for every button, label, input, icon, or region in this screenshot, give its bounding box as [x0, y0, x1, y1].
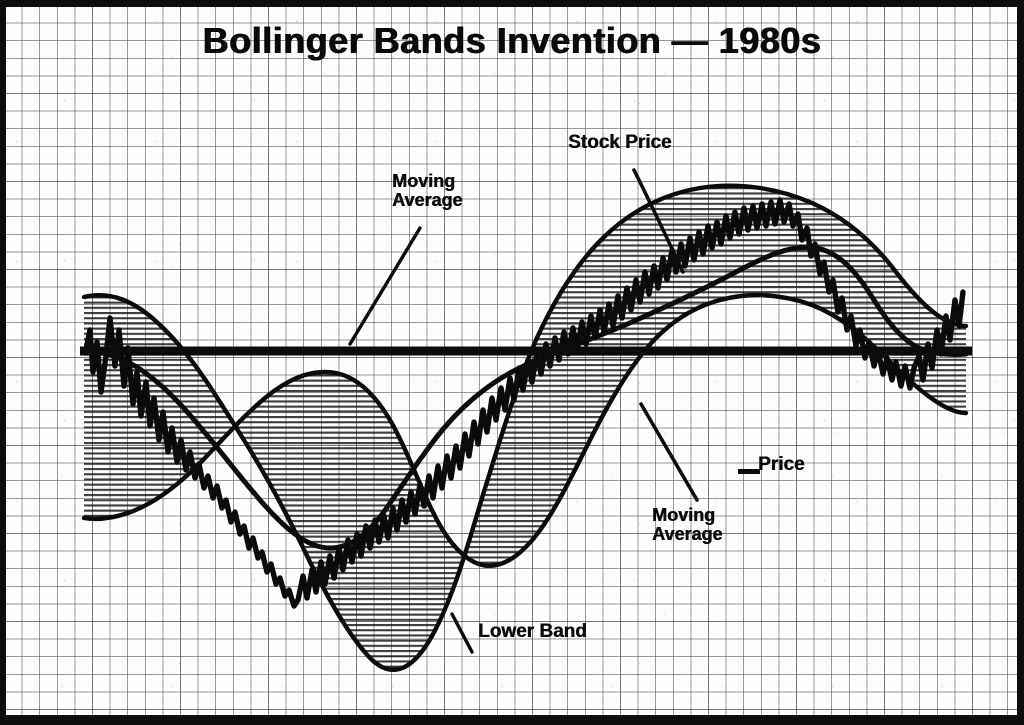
annotation-lower-band: Lower Band	[478, 622, 587, 643]
page-edge-right	[1017, 0, 1024, 725]
annotation-ma-bottom-line2: Average	[652, 525, 722, 544]
leader-line-lower-band	[452, 614, 472, 652]
leader-line-moving-average-top	[350, 228, 420, 344]
bollinger-bands-chart	[0, 0, 1024, 725]
legend-line-marker-icon	[738, 469, 760, 474]
annotation-ma-top-line2: Average	[392, 191, 462, 210]
scanned-chart-page: Bollinger Bands Invention — 1980s	[0, 0, 1024, 725]
annotation-moving-average-bottom: Moving Average	[652, 506, 722, 545]
annotation-ma-top-line1: Moving	[392, 172, 462, 191]
bollinger-band-fill	[0, 0, 1024, 725]
page-edge-left	[0, 0, 6, 725]
leader-line-moving-average-bottom-2	[641, 404, 697, 500]
annotation-stock-price: Stock Price	[568, 133, 672, 154]
annotation-moving-average-top: Moving Average	[392, 172, 462, 211]
legend-label-price: Price	[758, 455, 804, 476]
annotation-ma-bottom-line1: Moving	[652, 506, 722, 525]
page-edge-top	[0, 0, 1024, 7]
page-edge-bottom	[0, 715, 1024, 725]
